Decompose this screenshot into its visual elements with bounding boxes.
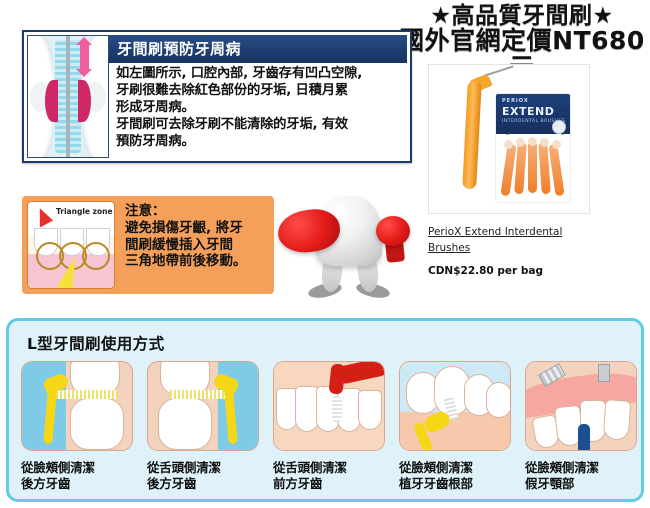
usage-caption-3-line2: 前方牙齒: [273, 476, 383, 492]
info-line-2: 牙刷很難去除紅色部份的牙垢, 日積月累: [116, 83, 403, 100]
product-price: CDN$22.80 per bag: [428, 265, 600, 277]
info-line-3: 形成牙周病。: [116, 100, 403, 117]
triangle-zone-notice: Triangle zone 注意： 避免損傷牙齦, 將牙 間刷緩慢插入牙間 三角…: [22, 196, 274, 294]
package-brand: PERIOX: [502, 98, 529, 104]
usage-step-3: 從舌頭側清潔 前方牙齒: [273, 361, 383, 492]
usage-step-2: 從舌頭側清潔 後方牙齒: [147, 361, 257, 492]
info-line-5: 預防牙周病。: [116, 134, 403, 151]
info-box-title: 牙間刷預防牙周病: [109, 35, 407, 63]
usage-caption-4-line2: 植牙牙齒根部: [399, 476, 509, 492]
usage-panel-title: L型牙間刷使用方式: [27, 332, 164, 354]
usage-step-4: 從臉頰側清潔 植牙牙齒根部: [399, 361, 509, 492]
info-box-text: 如左圖所示, 口腔內部, 牙齒存有凹凸空隙, 牙刷很難去除紅色部份的牙垢, 日積…: [109, 63, 407, 150]
triangle-zone-line-3: 三角地帶前後移動。: [125, 253, 269, 269]
triangle-zone-line-2: 間刷緩慢插入牙間: [125, 237, 269, 253]
boxing-tooth-mascot-icon: [278, 188, 418, 308]
triangle-zone-text: 注意： 避免損傷牙齦, 將牙 間刷緩慢插入牙間 三角地帶前後移動。: [115, 201, 269, 289]
usage-caption-2: 從舌頭側清潔 後方牙齒: [147, 460, 257, 492]
info-box: 牙間刷預防牙周病 如左圖所示, 口腔內部, 牙齒存有凹凸空隙, 牙刷很難去除紅色…: [22, 30, 412, 163]
usage-caption-4-line1: 從臉頰側清潔: [399, 460, 509, 476]
usage-caption-1: 從臉頰側清潔 後方牙齒: [21, 460, 131, 492]
usage-caption-5: 從臉頰側清潔 假牙顎部: [525, 460, 635, 492]
usage-caption-3: 從舌頭側清潔 前方牙齒: [273, 460, 383, 492]
page-root: ★高品質牙間刷★ 國外官網定價NT680元 牙間刷預防牙周病 如左圖: [0, 0, 650, 508]
package-name: EXTEND: [502, 105, 554, 118]
triangle-zone-line-1: 避免損傷牙齦, 將牙: [125, 220, 269, 236]
product-link[interactable]: PerioX Extend Interdental Brushes: [428, 224, 596, 257]
usage-caption-2-line1: 從舌頭側清潔: [147, 460, 257, 476]
usage-panel: L型牙間刷使用方式 從臉頰側清潔 後方牙齒: [6, 318, 644, 502]
interdental-brush-diagram-icon: [27, 35, 109, 158]
info-line-1: 如左圖所示, 口腔內部, 牙齒存有凹凸空隙,: [116, 66, 403, 83]
molars-lingual-side-yellow-brush-icon: [147, 361, 259, 451]
promo-heading: ★高品質牙間刷★ 國外官網定價NT680元: [398, 4, 646, 66]
usage-step-1: 從臉頰側清潔 後方牙齒: [21, 361, 131, 492]
promo-heading-line1: ★高品質牙間刷★: [398, 4, 646, 28]
info-line-4: 牙間刷可去除牙刷不能清除的牙垢, 有效: [116, 117, 403, 134]
triangle-zone-heading: 注意：: [125, 203, 269, 219]
usage-step-5: 從臉頰側清潔 假牙顎部: [525, 361, 635, 492]
product-block: PERIOX EXTEND INTERDENTAL BRUSHES PerioX…: [428, 64, 600, 277]
triangle-zone-label: Triangle zone: [55, 207, 114, 216]
usage-caption-2-line2: 後方牙齒: [147, 476, 257, 492]
implant-root-buccal-yellow-brush-icon: [399, 361, 511, 451]
usage-caption-1-line1: 從臉頰側清潔: [21, 460, 131, 476]
up-down-arrow-icon: [80, 44, 89, 70]
product-image-icon: PERIOX EXTEND INTERDENTAL BRUSHES: [428, 64, 590, 214]
usage-caption-1-line2: 後方牙齒: [21, 476, 131, 492]
usage-caption-3-line1: 從舌頭側清潔: [273, 460, 383, 476]
usage-caption-5-line1: 從臉頰側清潔: [525, 460, 635, 476]
denture-jaw-buccal-blue-brush-icon: [525, 361, 637, 451]
usage-caption-4: 從臉頰側清潔 植牙牙齒根部: [399, 460, 509, 492]
triangle-zone-diagram-icon: Triangle zone: [27, 201, 115, 289]
molars-buccal-side-yellow-brush-icon: [21, 361, 133, 451]
usage-caption-5-line2: 假牙顎部: [525, 476, 635, 492]
front-teeth-lingual-red-brush-icon: [273, 361, 385, 451]
